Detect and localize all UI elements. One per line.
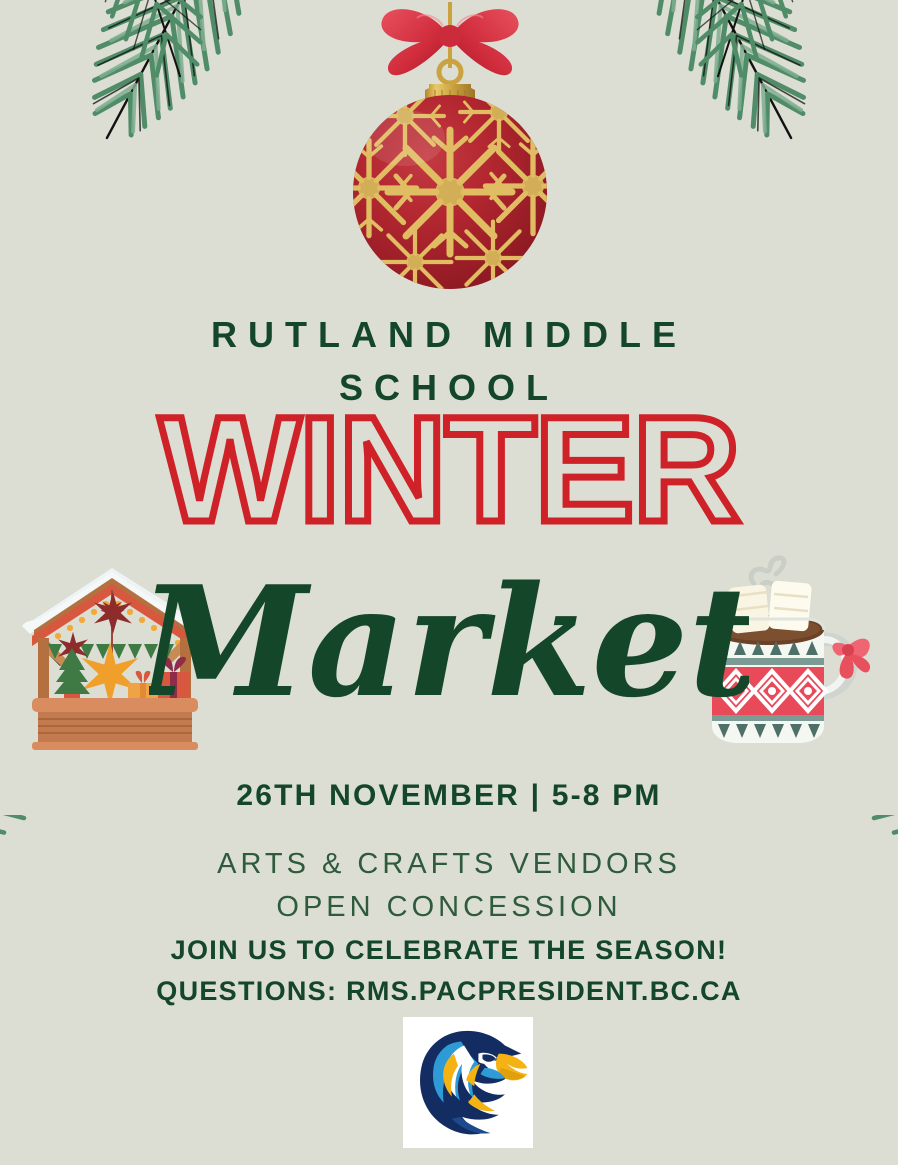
school-eagle-mascot-logo bbox=[403, 1017, 533, 1148]
title-market-text: Market bbox=[149, 552, 749, 731]
cta-questions: QUESTIONS: RMS.PACPRESIDENT.BC.CA bbox=[0, 971, 898, 1012]
call-to-action: JOIN US TO CELEBRATE THE SEASON! QUESTIO… bbox=[0, 930, 898, 1012]
title-market: Market bbox=[0, 545, 898, 745]
school-logo bbox=[403, 1017, 533, 1148]
school-name-line2: SCHOOL bbox=[0, 361, 898, 414]
title-winter-text: WINTER bbox=[159, 408, 739, 548]
school-name-line1: RUTLAND MIDDLE bbox=[0, 308, 898, 361]
date-time: 26TH NOVEMBER | 5-8 PM bbox=[0, 779, 898, 813]
winter-market-poster: RUTLAND MIDDLE SCHOOL WINTER Market 26TH… bbox=[0, 0, 898, 1165]
event-details: ARTS & CRAFTS VENDORS OPEN CONCESSION bbox=[0, 843, 898, 929]
detail-concession: OPEN CONCESSION bbox=[0, 886, 898, 929]
title-winter: WINTER bbox=[0, 408, 898, 548]
school-name: RUTLAND MIDDLE SCHOOL bbox=[0, 308, 898, 414]
detail-vendors: ARTS & CRAFTS VENDORS bbox=[0, 843, 898, 886]
cta-join: JOIN US TO CELEBRATE THE SEASON! bbox=[0, 930, 898, 971]
